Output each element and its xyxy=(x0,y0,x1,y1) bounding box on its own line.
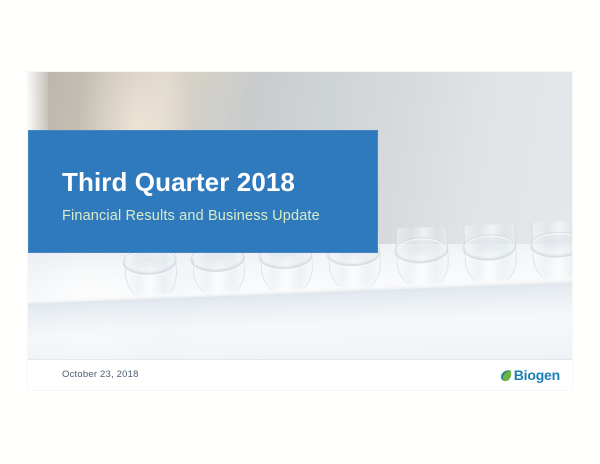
tube-well xyxy=(462,233,517,261)
slide-footer: October 23, 2018 Biogen xyxy=(28,359,572,390)
footer-date: October 23, 2018 xyxy=(62,369,139,380)
tube-well xyxy=(394,236,449,264)
title-banner: Third Quarter 2018 Financial Results and… xyxy=(28,130,378,253)
biogen-wordmark: Biogen xyxy=(514,368,560,382)
presentation-slide: TUBES Third Quarter 2018 Financial Resul… xyxy=(28,72,572,390)
page-subtitle: Financial Results and Business Update xyxy=(62,208,320,224)
biogen-leaf-icon xyxy=(499,369,512,382)
page-canvas: TUBES Third Quarter 2018 Financial Resul… xyxy=(0,0,600,464)
tube-well xyxy=(530,231,572,259)
page-title: Third Quarter 2018 xyxy=(62,167,295,198)
biogen-logo: Biogen xyxy=(499,366,560,384)
